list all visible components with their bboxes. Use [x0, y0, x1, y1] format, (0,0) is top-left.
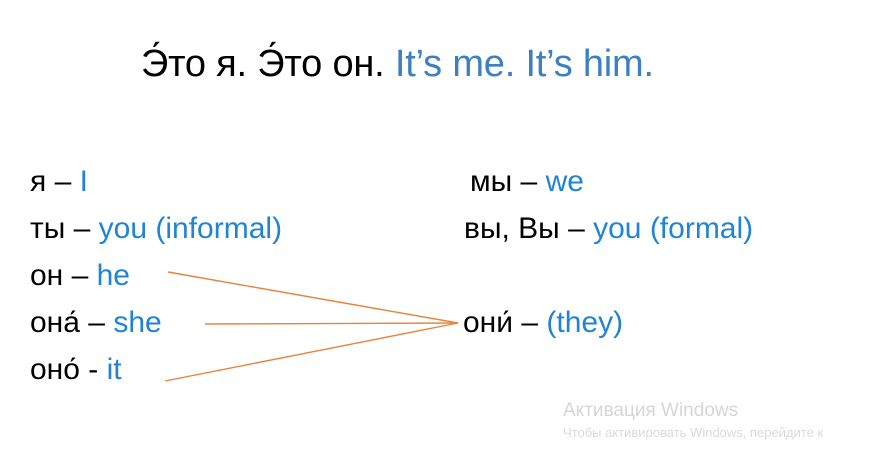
- slide-title: Э́то я. Э́то он. It’s me. It’s him.: [141, 41, 654, 87]
- pronoun-english: I: [80, 165, 88, 198]
- pronoun-row-ty: ты – you (informal): [30, 205, 282, 252]
- pronoun-column-plural: мы – we вы, Вы – you (formal) они́ – (th…: [463, 158, 753, 346]
- pronoun-english: you (formal): [593, 212, 753, 245]
- pronoun-english: he: [97, 259, 130, 292]
- pronoun-russian: оно́ -: [30, 353, 98, 386]
- pronoun-russian: он –: [30, 259, 88, 292]
- pronoun-row-vy: вы, Вы – you (formal): [463, 205, 753, 252]
- pronoun-row-ya: я – I: [30, 158, 282, 205]
- pronoun-english: we: [546, 165, 584, 198]
- pronoun-row-ona: она́ – she: [30, 299, 282, 346]
- pronoun-english: she: [113, 306, 161, 339]
- pronoun-russian: она́ –: [30, 306, 105, 339]
- pronoun-english: you (informal): [99, 212, 282, 245]
- pronoun-row-my: мы – we: [463, 158, 753, 205]
- pronoun-row-oni: они́ – (they): [463, 299, 753, 346]
- pronoun-russian: я –: [30, 165, 71, 198]
- watermark-title: Активация Windows: [563, 398, 823, 423]
- pronoun-english: (they): [546, 306, 623, 339]
- watermark-subtitle: Чтобы активировать Windows, перейдите к: [563, 423, 823, 442]
- pronoun-column-singular: я – I ты – you (informal) он – he она́ –…: [30, 158, 282, 393]
- pronoun-russian: мы –: [470, 165, 537, 198]
- pronoun-russian: ты –: [30, 212, 90, 245]
- title-russian: Э́то я. Э́то он.: [141, 43, 385, 85]
- pronoun-row-ono: оно́ - it: [30, 346, 282, 393]
- title-english: It’s me. It’s him.: [395, 43, 654, 85]
- pronoun-row-on: он – he: [30, 252, 282, 299]
- pronoun-russian: вы, Вы –: [464, 212, 585, 245]
- pronoun-russian: они́ –: [463, 306, 538, 339]
- windows-activation-watermark: Активация Windows Чтобы активировать Win…: [563, 398, 823, 442]
- pronoun-english: it: [107, 353, 122, 386]
- slide-canvas: Э́то я. Э́то он. It’s me. It’s him. я – …: [0, 0, 874, 452]
